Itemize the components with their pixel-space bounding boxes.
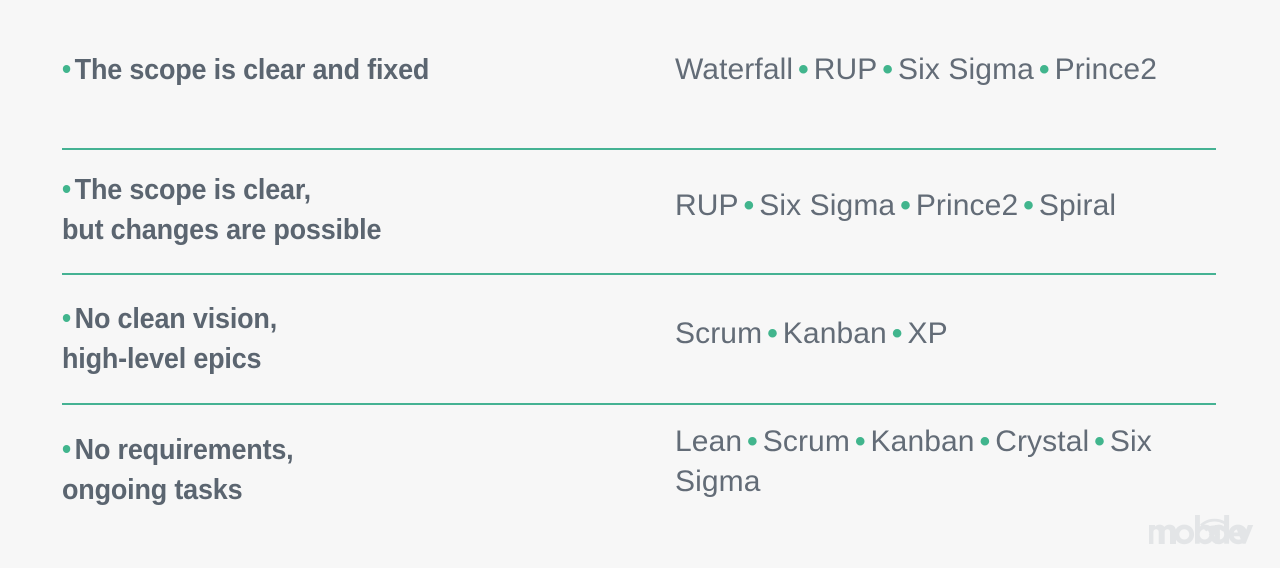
row-divider [62,273,1216,275]
condition-cell: •No requirements, ongoing tasks [62,408,675,510]
condition-cell: •The scope is clear, but changes are pos… [62,148,675,250]
method-separator: • [877,53,898,86]
method-item: RUP [814,53,878,86]
methods-cell: Scrum•Kanban•XP [675,278,1220,354]
method-separator: • [793,53,814,86]
method-item: Scrum [763,425,850,458]
method-separator: • [742,425,763,458]
method-item: Six Sigma [898,53,1034,86]
bullet-icon: • [62,302,71,333]
method-separator: • [1089,425,1110,458]
method-item: Scrum [675,317,762,350]
condition-cell: •The scope is clear and fixed [62,0,675,90]
method-item: Kanban [783,317,887,350]
method-item: Six Sigma [759,189,895,222]
condition-text: •The scope is clear and fixed [62,49,632,90]
mobidev-logo [1148,508,1256,554]
bullet-icon: • [62,53,71,84]
methods-list: Scrum•Kanban•XP [675,314,1220,354]
method-separator: • [762,317,783,350]
condition-cell: •No clean vision, high-level epics [62,278,675,379]
table-row: •No clean vision, high-level epics Scrum… [0,278,1280,408]
method-separator: • [1034,53,1055,86]
condition-text: •No requirements, ongoing tasks [62,429,632,510]
condition-label: No clean vision, high-level epics [62,303,277,375]
methods-cell: Lean•Scrum•Kanban•Crystal•Six Sigma [675,408,1220,502]
method-item: XP [907,317,947,350]
method-separator: • [1018,189,1039,222]
methods-cell: RUP•Six Sigma•Prince2•Spiral [675,148,1220,226]
condition-label: No requirements, ongoing tasks [62,434,293,506]
method-item: Lean [675,425,742,458]
condition-label: The scope is clear, but changes are poss… [62,174,381,246]
methods-list: RUP•Six Sigma•Prince2•Spiral [675,186,1220,226]
table-row: •The scope is clear and fixed Waterfall•… [0,0,1280,148]
table-row: •No requirements, ongoing tasks Lean•Scr… [0,408,1280,538]
table-row: •The scope is clear, but changes are pos… [0,148,1280,278]
method-item: Prince2 [1055,53,1157,86]
method-item: Spiral [1039,189,1116,222]
method-separator: • [887,317,908,350]
row-divider [62,148,1216,150]
comparison-table: •The scope is clear and fixed Waterfall•… [0,0,1280,538]
method-separator: • [895,189,916,222]
condition-label: The scope is clear and fixed [75,54,430,86]
method-item: Waterfall [675,53,793,86]
slide-canvas: •The scope is clear and fixed Waterfall•… [0,0,1280,568]
method-item: Prince2 [916,189,1018,222]
bullet-icon: • [62,173,71,204]
method-item: Kanban [871,425,975,458]
condition-text: •No clean vision, high-level epics [62,298,632,379]
row-divider [62,403,1216,405]
bullet-icon: • [62,433,71,464]
method-separator: • [850,425,871,458]
method-item: Crystal [995,425,1089,458]
condition-text: •The scope is clear, but changes are pos… [62,169,632,250]
method-separator: • [975,425,996,458]
methods-cell: Waterfall•RUP•Six Sigma•Prince2 [675,0,1220,90]
methods-list: Lean•Scrum•Kanban•Crystal•Six Sigma [675,422,1220,502]
method-separator: • [739,189,760,222]
methods-list: Waterfall•RUP•Six Sigma•Prince2 [675,50,1220,90]
method-item: RUP [675,189,739,222]
